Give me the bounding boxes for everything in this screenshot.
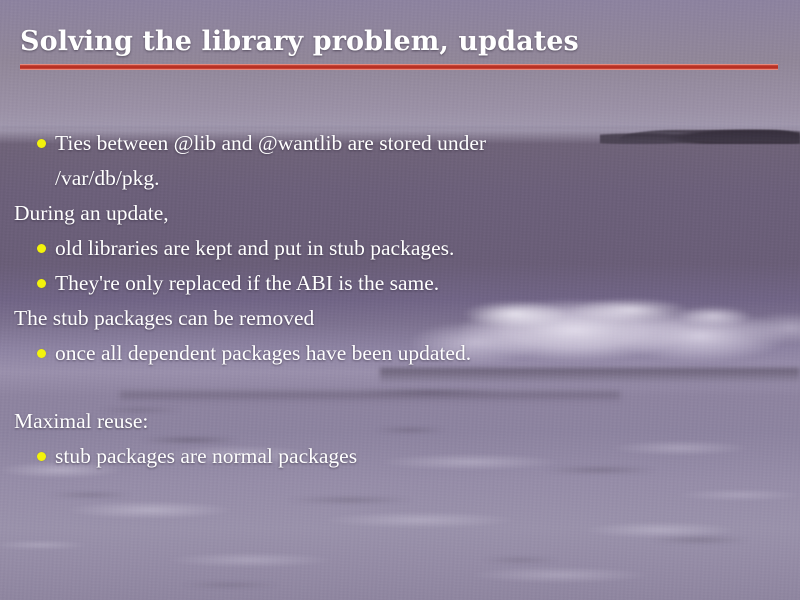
line-text: /var/db/pkg.: [55, 166, 160, 190]
line-text: The stub packages can be removed: [14, 306, 314, 330]
bullet-list-item: once all dependent packages have been up…: [0, 336, 800, 371]
line-text: During an update,: [14, 201, 169, 225]
text-line: The stub packages can be removed: [0, 301, 800, 336]
text-line: Maximal reuse:: [0, 404, 800, 439]
slide-body-list: Ties between @lib and @wantlib are store…: [0, 126, 800, 474]
line-text: Ties between @lib and @wantlib are store…: [55, 131, 486, 155]
bullet-list-item: old libraries are kept and put in stub p…: [0, 231, 800, 266]
line-text: once all dependent packages have been up…: [55, 341, 471, 365]
bullet-dot-icon: [37, 452, 46, 461]
page-title: Solving the library problem, updates: [20, 26, 579, 58]
bullet-dot-icon: [37, 139, 46, 148]
bullet-dot-icon: [37, 279, 46, 288]
bullet-list-item: Ties between @lib and @wantlib are store…: [0, 126, 800, 161]
line-text: stub packages are normal packages: [55, 444, 357, 468]
presentation-slide: Solving the library problem, updates Tie…: [0, 0, 800, 600]
bullet-dot-icon: [37, 244, 46, 253]
list-spacer: [0, 371, 800, 404]
text-line: /var/db/pkg.: [0, 161, 800, 196]
bullet-list-item: They're only replaced if the ABI is the …: [0, 266, 800, 301]
line-text: old libraries are kept and put in stub p…: [55, 236, 454, 260]
line-text: Maximal reuse:: [14, 409, 148, 433]
text-line: During an update,: [0, 196, 800, 231]
title-underline-rule: [20, 64, 778, 70]
bullet-list-item: stub packages are normal packages: [0, 439, 800, 474]
bullet-dot-icon: [37, 349, 46, 358]
line-text: They're only replaced if the ABI is the …: [55, 271, 439, 295]
